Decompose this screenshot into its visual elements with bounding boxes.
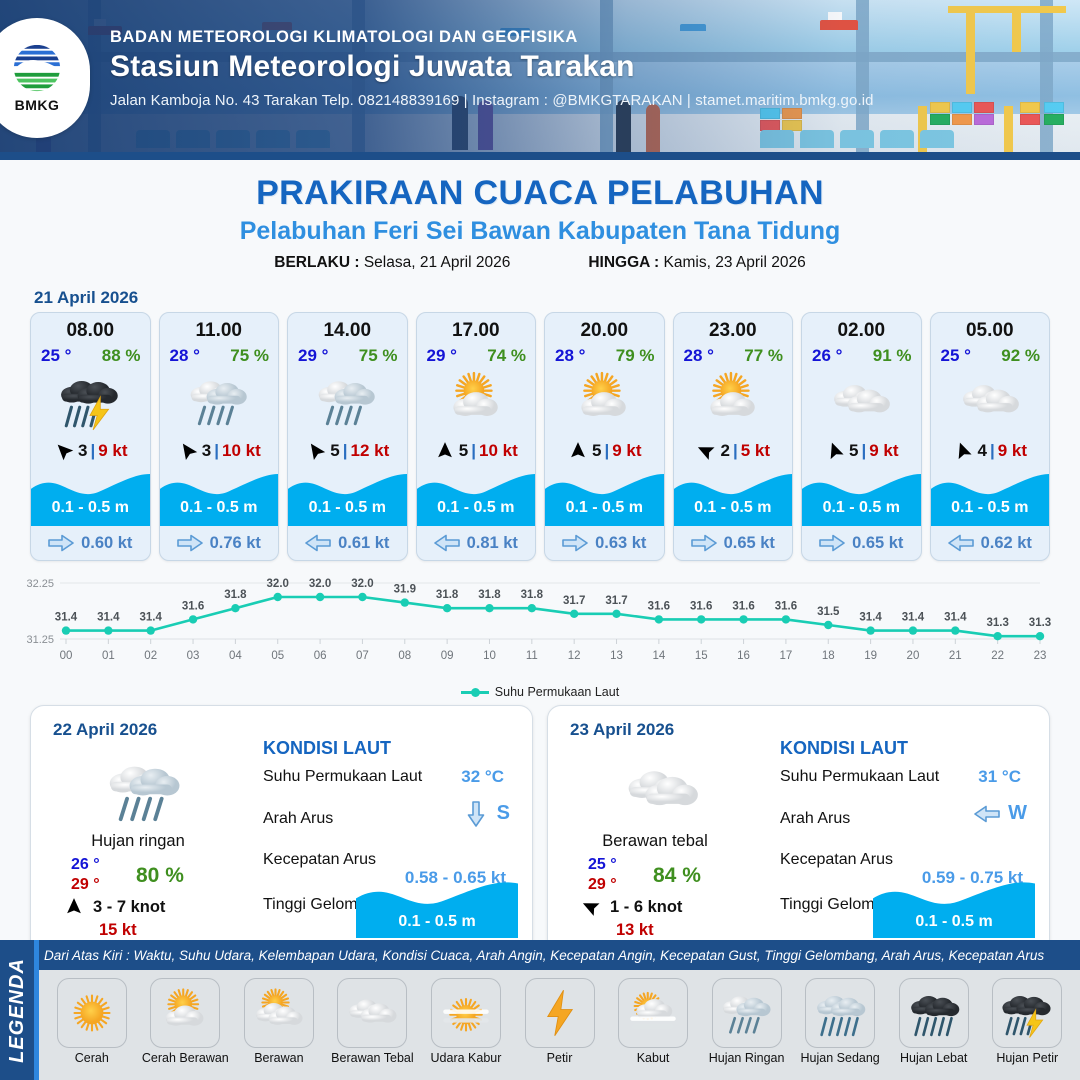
bmkg-logo-text: BMKG xyxy=(15,97,60,113)
until-value: Kamis, 23 April 2026 xyxy=(664,254,806,271)
wind-speed: 4 xyxy=(977,441,986,461)
legend-side-title: LEGENDA xyxy=(0,940,34,1080)
svg-text:31.4: 31.4 xyxy=(55,612,78,624)
svg-text:31.4: 31.4 xyxy=(140,612,163,624)
wind-direction-icon xyxy=(567,440,589,462)
weather-icon-berawan-tebal xyxy=(802,366,921,436)
svg-text:18: 18 xyxy=(822,650,835,662)
bmkg-logo-icon xyxy=(8,43,66,95)
hourly-card: 11.00 28 ° 75 % 3 | 10 kt xyxy=(159,312,280,561)
card-time: 14.00 xyxy=(288,320,407,342)
svg-text:31.7: 31.7 xyxy=(605,595,627,607)
wave-height: 0.1 - 0.5 m xyxy=(288,499,407,517)
wind-direction-icon xyxy=(53,440,75,462)
wind-speed: 2 xyxy=(720,441,729,461)
card-gust: 10 kt xyxy=(222,441,261,461)
current-direction-icon xyxy=(305,534,331,552)
hourly-card: 20.00 28 ° 79 % 5 | 9 kt 0.1 - 0.5 m xyxy=(544,312,665,561)
until-label: HINGGA : xyxy=(588,254,659,271)
svg-text:03: 03 xyxy=(187,650,200,662)
svg-text:31.4: 31.4 xyxy=(859,612,882,624)
validity-row: BERLAKU : Selasa, 21 April 2026 HINGGA :… xyxy=(0,254,1080,272)
sst-chart-svg: 32.2531.25000102030405060708091011121314… xyxy=(0,571,1080,683)
sst-chart: 32.2531.25000102030405060708091011121314… xyxy=(0,571,1080,683)
wind-separator: | xyxy=(990,441,995,461)
weather-icon-berawan xyxy=(244,978,314,1048)
card-humidity: 74 % xyxy=(487,346,526,366)
card-current: 0.81 kt xyxy=(417,526,536,560)
valid-label: BERLAKU : xyxy=(274,254,359,271)
card-wave: 0.1 - 0.5 m xyxy=(674,468,793,526)
card-wind: 3 | 10 kt xyxy=(160,436,279,466)
card-wind: 5 | 12 kt xyxy=(288,436,407,466)
card-gust: 9 kt xyxy=(98,441,127,461)
legend-section: LEGENDA Dari Atas Kiri : Waktu, Suhu Uda… xyxy=(0,940,1080,1080)
svg-text:20: 20 xyxy=(907,650,920,662)
wind-speed: 5 xyxy=(330,441,339,461)
svg-text:31.5: 31.5 xyxy=(817,606,840,618)
current-speed: 0.60 kt xyxy=(81,534,132,553)
card-current: 0.65 kt xyxy=(802,526,921,560)
card-temperature: 26 ° xyxy=(812,346,842,366)
daily-humidity: 84 % xyxy=(653,864,701,888)
svg-text:31.8: 31.8 xyxy=(224,589,247,601)
card-time: 20.00 xyxy=(545,320,664,342)
current-direction-value: W xyxy=(1008,802,1027,825)
daily-wave-value: 0.1 - 0.5 m xyxy=(356,913,518,931)
weather-icon-cerah-berawan xyxy=(417,366,536,436)
svg-text:31.6: 31.6 xyxy=(182,600,204,612)
weather-icon-berawan-tebal xyxy=(337,978,407,1048)
daily-temps: 25 ° 29 ° xyxy=(588,856,617,894)
legend-item-label: Berawan Tebal xyxy=(331,1051,413,1065)
card-gust: 9 kt xyxy=(612,441,641,461)
card-wind: 3 | 9 kt xyxy=(31,436,150,466)
hourly-card: 05.00 25 ° 92 % 4 | 9 kt xyxy=(930,312,1051,561)
weather-icon-cerah-berawan xyxy=(674,366,793,436)
svg-text:31.6: 31.6 xyxy=(775,600,797,612)
wind-speed: 5 xyxy=(592,441,601,461)
daily-wind: 3 - 7 knot xyxy=(63,896,165,918)
svg-text:31.8: 31.8 xyxy=(521,589,544,601)
weather-icon-hujan-lebat xyxy=(899,978,969,1048)
card-humidity: 79 % xyxy=(616,346,655,366)
card-gust: 12 kt xyxy=(350,441,389,461)
current-direction-icon xyxy=(562,534,588,552)
current-direction-icon xyxy=(463,805,489,823)
card-wave: 0.1 - 0.5 m xyxy=(160,468,279,526)
svg-text:32.0: 32.0 xyxy=(267,578,289,590)
legend-items: Cerah Cerah Berawan B xyxy=(39,970,1080,1080)
card-humidity: 88 % xyxy=(102,346,141,366)
svg-text:09: 09 xyxy=(441,650,454,662)
svg-text:17: 17 xyxy=(780,650,793,662)
legend-item-label: Berawan xyxy=(254,1051,303,1065)
wind-separator: | xyxy=(214,441,219,461)
card-wave: 0.1 - 0.5 m xyxy=(931,468,1050,526)
card-time: 17.00 xyxy=(417,320,536,342)
weather-icon-hujan-petir xyxy=(31,366,150,436)
card-wave: 0.1 - 0.5 m xyxy=(545,468,664,526)
daily-wind-speed: 3 - 7 knot xyxy=(93,898,165,917)
svg-text:15: 15 xyxy=(695,650,708,662)
current-direction-icon xyxy=(948,534,974,552)
wind-direction-icon xyxy=(305,440,327,462)
svg-text:32.0: 32.0 xyxy=(351,578,373,590)
wind-direction-icon xyxy=(63,896,85,918)
legend-item-label: Hujan Petir xyxy=(996,1051,1058,1065)
svg-text:31.9: 31.9 xyxy=(394,584,416,596)
svg-text:05: 05 xyxy=(271,650,284,662)
agency-name: BADAN METEOROLOGI KLIMATOLOGI DAN GEOFIS… xyxy=(110,28,874,47)
card-time: 11.00 xyxy=(160,320,279,342)
card-temperature: 29 ° xyxy=(298,346,328,366)
current-speed: 0.81 kt xyxy=(467,534,518,553)
current-direction-value-group: W xyxy=(974,802,1027,825)
wind-separator: | xyxy=(90,441,95,461)
current-direction-icon xyxy=(819,534,845,552)
card-wind: 5 | 9 kt xyxy=(802,436,921,466)
legend-item: Udara Kabur xyxy=(419,978,513,1065)
current-direction-icon xyxy=(177,534,203,552)
hourly-card: 17.00 29 ° 74 % 5 | 10 kt 0.1 - 0.5 m xyxy=(416,312,537,561)
card-gust: 9 kt xyxy=(998,441,1027,461)
weather-icon-hujan-ringan xyxy=(45,748,245,834)
svg-text:23: 23 xyxy=(1034,650,1047,662)
card-current: 0.62 kt xyxy=(931,526,1050,560)
card-temperature: 28 ° xyxy=(684,346,714,366)
svg-text:00: 00 xyxy=(60,650,73,662)
sst-label: Suhu Permukaan Laut xyxy=(263,768,422,786)
legend-item: Cerah Berawan xyxy=(139,978,233,1065)
card-wave: 0.1 - 0.5 m xyxy=(802,468,921,526)
legend-item: Berawan xyxy=(232,978,326,1065)
wind-speed: 3 xyxy=(202,441,211,461)
weather-icon-cerah-berawan xyxy=(150,978,220,1048)
svg-text:07: 07 xyxy=(356,650,369,662)
daily-temps: 26 ° 29 ° xyxy=(71,856,100,894)
wind-direction-icon xyxy=(824,440,846,462)
wave-height: 0.1 - 0.5 m xyxy=(160,499,279,517)
svg-text:32.25: 32.25 xyxy=(26,578,54,590)
card-gust: 5 kt xyxy=(741,441,770,461)
current-direction-icon xyxy=(691,534,717,552)
chart-legend-marker xyxy=(461,691,489,694)
card-wave: 0.1 - 0.5 m xyxy=(31,468,150,526)
svg-text:31.25: 31.25 xyxy=(26,634,54,646)
wind-direction-icon xyxy=(434,440,456,462)
daily-temp-max: 29 ° xyxy=(588,876,617,894)
card-humidity: 75 % xyxy=(230,346,269,366)
daily-gust: 15 kt xyxy=(99,921,137,940)
wind-direction-icon xyxy=(952,440,974,462)
current-speed: 0.61 kt xyxy=(338,534,389,553)
wind-separator: | xyxy=(604,441,609,461)
current-speed: 0.76 kt xyxy=(210,534,261,553)
legend-item-label: Cerah Berawan xyxy=(142,1051,229,1065)
page-title: PRAKIRAAN CUACA PELABUHAN xyxy=(0,174,1080,213)
card-time: 05.00 xyxy=(931,320,1050,342)
legend-item-label: Hujan Ringan xyxy=(709,1051,785,1065)
card-current: 0.63 kt xyxy=(545,526,664,560)
weather-icon-cerah-berawan xyxy=(545,366,664,436)
weather-icon-hujan-sedang xyxy=(805,978,875,1048)
card-humidity: 75 % xyxy=(359,346,398,366)
svg-text:14: 14 xyxy=(652,650,665,662)
svg-text:31.6: 31.6 xyxy=(690,600,712,612)
card-wind: 2 | 5 kt xyxy=(674,436,793,466)
wind-separator: | xyxy=(471,441,476,461)
current-speed-label: Kecepatan Arus xyxy=(780,851,893,869)
wind-direction-icon xyxy=(177,440,199,462)
hourly-card: 02.00 26 ° 91 % 5 | 9 kt xyxy=(801,312,922,561)
daily-wave-value: 0.1 - 0.5 m xyxy=(873,913,1035,931)
chart-legend: Suhu Permukaan Laut xyxy=(0,685,1080,699)
current-speed: 0.65 kt xyxy=(852,534,903,553)
card-wind: 4 | 9 kt xyxy=(931,436,1050,466)
legend-item: Hujan Lebat xyxy=(887,978,981,1065)
current-direction-icon xyxy=(48,534,74,552)
weather-icon-cerah xyxy=(57,978,127,1048)
page-subtitle: Pelabuhan Feri Sei Bawan Kabupaten Tana … xyxy=(0,217,1080,246)
card-temperature: 28 ° xyxy=(555,346,585,366)
card-humidity: 91 % xyxy=(873,346,912,366)
weather-icon-kabut xyxy=(618,978,688,1048)
card-wind: 5 | 9 kt xyxy=(545,436,664,466)
wave-height: 0.1 - 0.5 m xyxy=(545,499,664,517)
title-block: PRAKIRAAN CUACA PELABUHAN Pelabuhan Feri… xyxy=(0,160,1080,272)
bmkg-logo: BMKG xyxy=(0,18,90,138)
svg-text:31.3: 31.3 xyxy=(986,617,1008,629)
svg-text:22: 22 xyxy=(991,650,1004,662)
daily-wave: 0.1 - 0.5 m xyxy=(356,876,518,938)
wind-speed: 5 xyxy=(459,441,468,461)
legend-item-label: Cerah xyxy=(75,1051,109,1065)
svg-text:21: 21 xyxy=(949,650,962,662)
wind-separator: | xyxy=(733,441,738,461)
wind-direction-icon xyxy=(580,896,602,918)
legend-item-label: Petir xyxy=(547,1051,573,1065)
valid-value: Selasa, 21 April 2026 xyxy=(364,254,511,271)
daily-condition: Berawan tebal xyxy=(548,832,762,851)
svg-text:04: 04 xyxy=(229,650,242,662)
card-wave: 0.1 - 0.5 m xyxy=(288,468,407,526)
svg-text:12: 12 xyxy=(568,650,581,662)
daily-panels: 22 April 2026 Hujan ringan 26 ° 29 ° 80 … xyxy=(0,699,1080,953)
wind-separator: | xyxy=(343,441,348,461)
wave-height: 0.1 - 0.5 m xyxy=(931,499,1050,517)
sst-value: 31 °C xyxy=(978,767,1021,787)
card-humidity: 77 % xyxy=(744,346,783,366)
card-gust: 10 kt xyxy=(479,441,518,461)
daily-panel: 22 April 2026 Hujan ringan 26 ° 29 ° 80 … xyxy=(30,705,533,953)
legend-item-label: Udara Kabur xyxy=(431,1051,502,1065)
weather-icon-hujan-ringan xyxy=(160,366,279,436)
current-speed: 0.65 kt xyxy=(724,534,775,553)
current-direction-icon xyxy=(974,805,1000,823)
sst-label: Suhu Permukaan Laut xyxy=(780,768,939,786)
daily-condition: Hujan ringan xyxy=(31,832,245,851)
daily-wave: 0.1 - 0.5 m xyxy=(873,876,1035,938)
daily-temp-min: 26 ° xyxy=(71,856,100,874)
current-speed: 0.62 kt xyxy=(981,534,1032,553)
daily-humidity: 80 % xyxy=(136,864,184,888)
station-name: Stasiun Meteorologi Juwata Tarakan xyxy=(110,50,874,84)
legend-item: Petir xyxy=(513,978,607,1065)
page-header: BMKG BADAN METEOROLOGI KLIMATOLOGI DAN G… xyxy=(0,0,1080,160)
hourly-card: 08.00 25 ° 88 % 3 | 9 kt xyxy=(30,312,151,561)
weather-icon-hujan-ringan xyxy=(712,978,782,1048)
svg-text:11: 11 xyxy=(526,650,538,662)
current-direction-label: Arah Arus xyxy=(263,810,333,828)
legend-item-label: Hujan Sedang xyxy=(801,1051,880,1065)
wave-height: 0.1 - 0.5 m xyxy=(802,499,921,517)
svg-text:32.0: 32.0 xyxy=(309,578,331,590)
weather-icon-udara-kabur xyxy=(431,978,501,1048)
legend-item: Hujan Sedang xyxy=(793,978,887,1065)
daily-temp-min: 25 ° xyxy=(588,856,617,874)
card-current: 0.76 kt xyxy=(160,526,279,560)
current-direction-label: Arah Arus xyxy=(780,810,850,828)
daily-temp-max: 29 ° xyxy=(71,876,100,894)
card-temperature: 25 ° xyxy=(941,346,971,366)
wind-separator: | xyxy=(861,441,866,461)
daily-gust: 13 kt xyxy=(616,921,654,940)
svg-text:19: 19 xyxy=(864,650,877,662)
weather-icon-hujan-ringan xyxy=(288,366,407,436)
hourly-cards: 08.00 25 ° 88 % 3 | 9 kt xyxy=(0,312,1080,561)
svg-text:01: 01 xyxy=(102,650,115,662)
hourly-date: 21 April 2026 xyxy=(34,288,1080,308)
hourly-card: 23.00 28 ° 77 % 2 | 5 kt 0.1 - 0.5 m xyxy=(673,312,794,561)
current-speed: 0.63 kt xyxy=(595,534,646,553)
card-time: 02.00 xyxy=(802,320,921,342)
legend-item: Hujan Ringan xyxy=(700,978,794,1065)
legend-item-label: Kabut xyxy=(637,1051,670,1065)
card-current: 0.65 kt xyxy=(674,526,793,560)
sea-condition-title: KONDISI LAUT xyxy=(780,738,908,759)
svg-text:16: 16 xyxy=(737,650,750,662)
svg-text:31.4: 31.4 xyxy=(944,612,967,624)
weather-icon-hujan-petir xyxy=(992,978,1062,1048)
wave-height: 0.1 - 0.5 m xyxy=(31,499,150,517)
weather-icon-berawan-tebal xyxy=(562,748,762,834)
card-gust: 9 kt xyxy=(869,441,898,461)
current-direction-value-group: S xyxy=(463,802,510,825)
svg-text:31.8: 31.8 xyxy=(436,589,459,601)
current-direction-icon xyxy=(434,534,460,552)
wind-speed: 5 xyxy=(849,441,858,461)
daily-date: 23 April 2026 xyxy=(570,720,674,740)
card-current: 0.61 kt xyxy=(288,526,407,560)
svg-text:31.3: 31.3 xyxy=(1029,617,1051,629)
chart-legend-label: Suhu Permukaan Laut xyxy=(495,685,619,699)
svg-text:02: 02 xyxy=(144,650,157,662)
hourly-card: 14.00 29 ° 75 % 5 | 12 kt xyxy=(287,312,408,561)
wind-direction-icon xyxy=(695,440,717,462)
current-speed-label: Kecepatan Arus xyxy=(263,851,376,869)
daily-wind-speed: 1 - 6 knot xyxy=(610,898,682,917)
card-temperature: 29 ° xyxy=(427,346,457,366)
legend-item: Kabut xyxy=(606,978,700,1065)
card-temperature: 28 ° xyxy=(170,346,200,366)
legend-item: Cerah xyxy=(45,978,139,1065)
card-time: 23.00 xyxy=(674,320,793,342)
card-wind: 5 | 10 kt xyxy=(417,436,536,466)
legend-side-text: LEGENDA xyxy=(6,958,29,1063)
svg-text:31.8: 31.8 xyxy=(478,589,501,601)
svg-text:31.6: 31.6 xyxy=(732,600,754,612)
legend-item: Hujan Petir xyxy=(980,978,1074,1065)
wave-height: 0.1 - 0.5 m xyxy=(674,499,793,517)
current-direction-value: S xyxy=(497,802,510,825)
card-wave: 0.1 - 0.5 m xyxy=(417,468,536,526)
sea-condition-title: KONDISI LAUT xyxy=(263,738,391,759)
card-humidity: 92 % xyxy=(1001,346,1040,366)
legend-item: Berawan Tebal xyxy=(326,978,420,1065)
svg-text:10: 10 xyxy=(483,650,496,662)
card-temperature: 25 ° xyxy=(41,346,71,366)
svg-text:31.6: 31.6 xyxy=(648,600,670,612)
svg-text:31.4: 31.4 xyxy=(97,612,120,624)
weather-icon-berawan-tebal xyxy=(931,366,1050,436)
sst-value: 32 °C xyxy=(461,767,504,787)
daily-wind: 1 - 6 knot xyxy=(580,896,682,918)
legend-item-label: Hujan Lebat xyxy=(900,1051,967,1065)
svg-text:13: 13 xyxy=(610,650,623,662)
svg-text:31.7: 31.7 xyxy=(563,595,585,607)
wave-height: 0.1 - 0.5 m xyxy=(417,499,536,517)
svg-text:08: 08 xyxy=(398,650,411,662)
svg-text:06: 06 xyxy=(314,650,327,662)
card-current: 0.60 kt xyxy=(31,526,150,560)
svg-text:31.4: 31.4 xyxy=(902,612,925,624)
legend-note: Dari Atas Kiri : Waktu, Suhu Udara, Kele… xyxy=(44,940,1080,970)
station-contact: Jalan Kamboja No. 43 Tarakan Telp. 08214… xyxy=(110,92,874,109)
weather-icon-petir xyxy=(525,978,595,1048)
daily-date: 22 April 2026 xyxy=(53,720,157,740)
card-time: 08.00 xyxy=(31,320,150,342)
daily-panel: 23 April 2026 Berawan tebal 25 ° 29 ° 84… xyxy=(547,705,1050,953)
